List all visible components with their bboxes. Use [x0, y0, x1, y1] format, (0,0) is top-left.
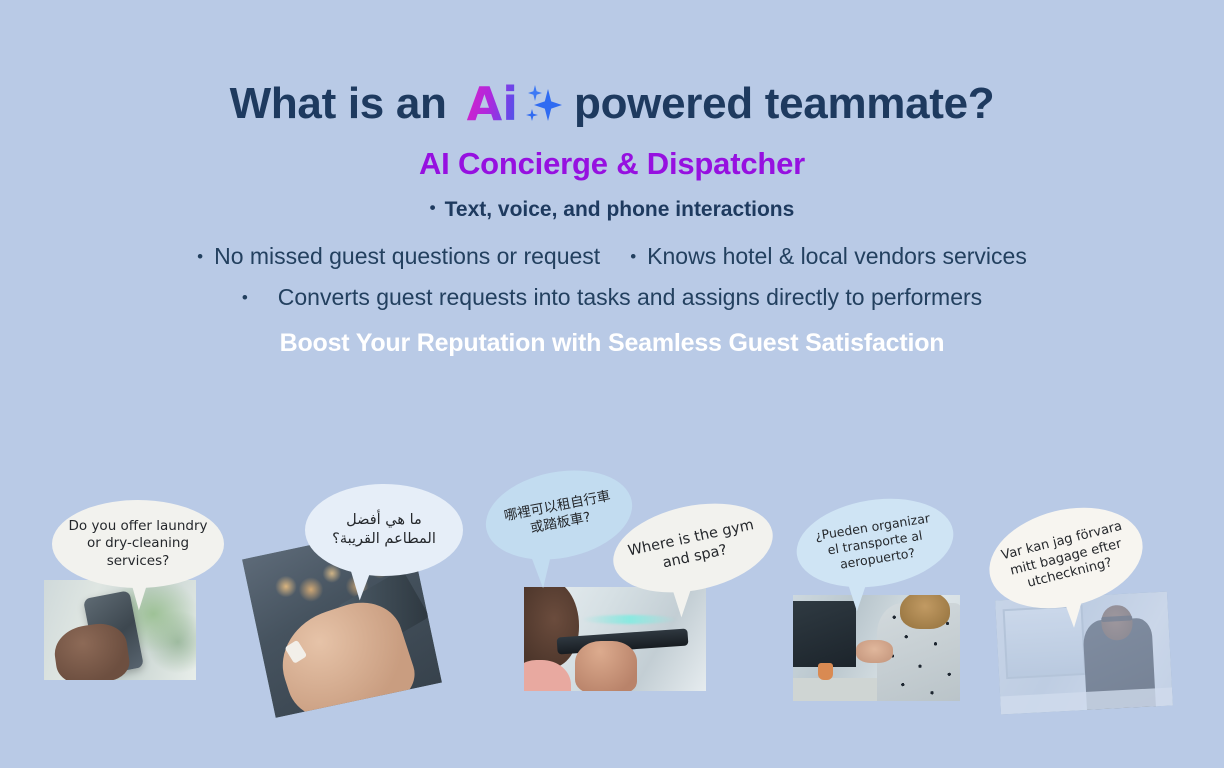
- headline-block: What is an Ai powered teammate? AI Conci…: [0, 78, 1224, 358]
- bubble-tail: [126, 579, 148, 611]
- bullet-icon: •: [197, 247, 203, 266]
- speech-bubble-text: ما هي أفضل المطاعم القريبة؟: [319, 511, 449, 548]
- hand-shape: [856, 640, 893, 663]
- photo-businessman-on-call: [995, 592, 1173, 715]
- speech-bubble-text: Where is the gym and spa?: [624, 516, 763, 580]
- bullet-icon: •: [630, 247, 636, 266]
- tagline-row: •Text, voice, and phone interactions: [0, 198, 1224, 222]
- speech-bubble-text: 哪裡可以租自行車或踏板車?: [497, 487, 621, 544]
- feature-text-2: Knows hotel & local vendors services: [647, 243, 1027, 269]
- speech-bubble-text: Do you offer laundry or dry-cleaning ser…: [66, 518, 210, 570]
- ai-logo-text: Ai: [467, 79, 518, 131]
- photo-woman-with-phone: [793, 595, 960, 701]
- face-shape: [524, 587, 579, 668]
- hand-shape: [575, 641, 637, 691]
- voice-wave-icon: [582, 615, 677, 624]
- plant-shape: [818, 663, 833, 680]
- title-text-pre: What is an: [230, 79, 467, 128]
- bullet-icon: •: [430, 198, 436, 217]
- bubble-tail: [531, 552, 557, 589]
- background-shape: [793, 601, 856, 667]
- subtitle: AI Concierge & Dispatcher: [0, 146, 1224, 182]
- boost-line: Boost Your Reputation with Seamless Gues…: [0, 329, 1224, 358]
- shoulder-shape: [524, 660, 571, 691]
- overlay-veil: [995, 592, 1173, 715]
- hand-shape: [51, 620, 131, 680]
- speech-bubble-laundry: Do you offer laundry or dry-cleaning ser…: [52, 500, 224, 588]
- ai-logo: Ai: [467, 79, 562, 131]
- sparkle-icon: [520, 83, 562, 127]
- bullet-icon: •: [242, 288, 248, 307]
- page-title: What is an Ai powered teammate?: [0, 78, 1224, 130]
- speech-bubble-text: ¿Pueden organizar el transporte al aerop…: [807, 509, 943, 577]
- feature-text-1: No missed guest questions or request: [214, 243, 600, 269]
- photo-hand-holding-smartphone: [44, 580, 196, 680]
- bubble-tail: [848, 581, 870, 612]
- hair-shape: [900, 595, 950, 629]
- counter-shape: [793, 678, 890, 701]
- feature-item-2: •Knows hotel & local vendors services: [630, 243, 1027, 270]
- conversation-scene: Do you offer laundry or dry-cleaning ser…: [0, 440, 1224, 768]
- feature-item-1: •No missed guest questions or request: [197, 243, 600, 270]
- bubble-tail: [1063, 597, 1084, 628]
- feature-row-three: •Converts guest requests into tasks and …: [0, 284, 1224, 311]
- speech-bubble-text: Var kan jag förvara mitt bagage efter ut…: [998, 518, 1134, 597]
- speech-bubble-restaurants-arabic: ما هي أفضل المطاعم القريبة؟: [305, 484, 463, 576]
- feature-text-3: Converts guest requests into tasks and a…: [278, 284, 982, 310]
- tagline-text: Text, voice, and phone interactions: [445, 198, 795, 221]
- bubble-tail: [351, 567, 376, 601]
- title-text-post: powered teammate?: [562, 79, 994, 128]
- feature-row-two: •No missed guest questions or request •K…: [0, 243, 1224, 270]
- speech-bubble-airport-transport-spanish: ¿Pueden organizar el transporte al aerop…: [790, 488, 960, 598]
- bubble-tail: [671, 585, 693, 618]
